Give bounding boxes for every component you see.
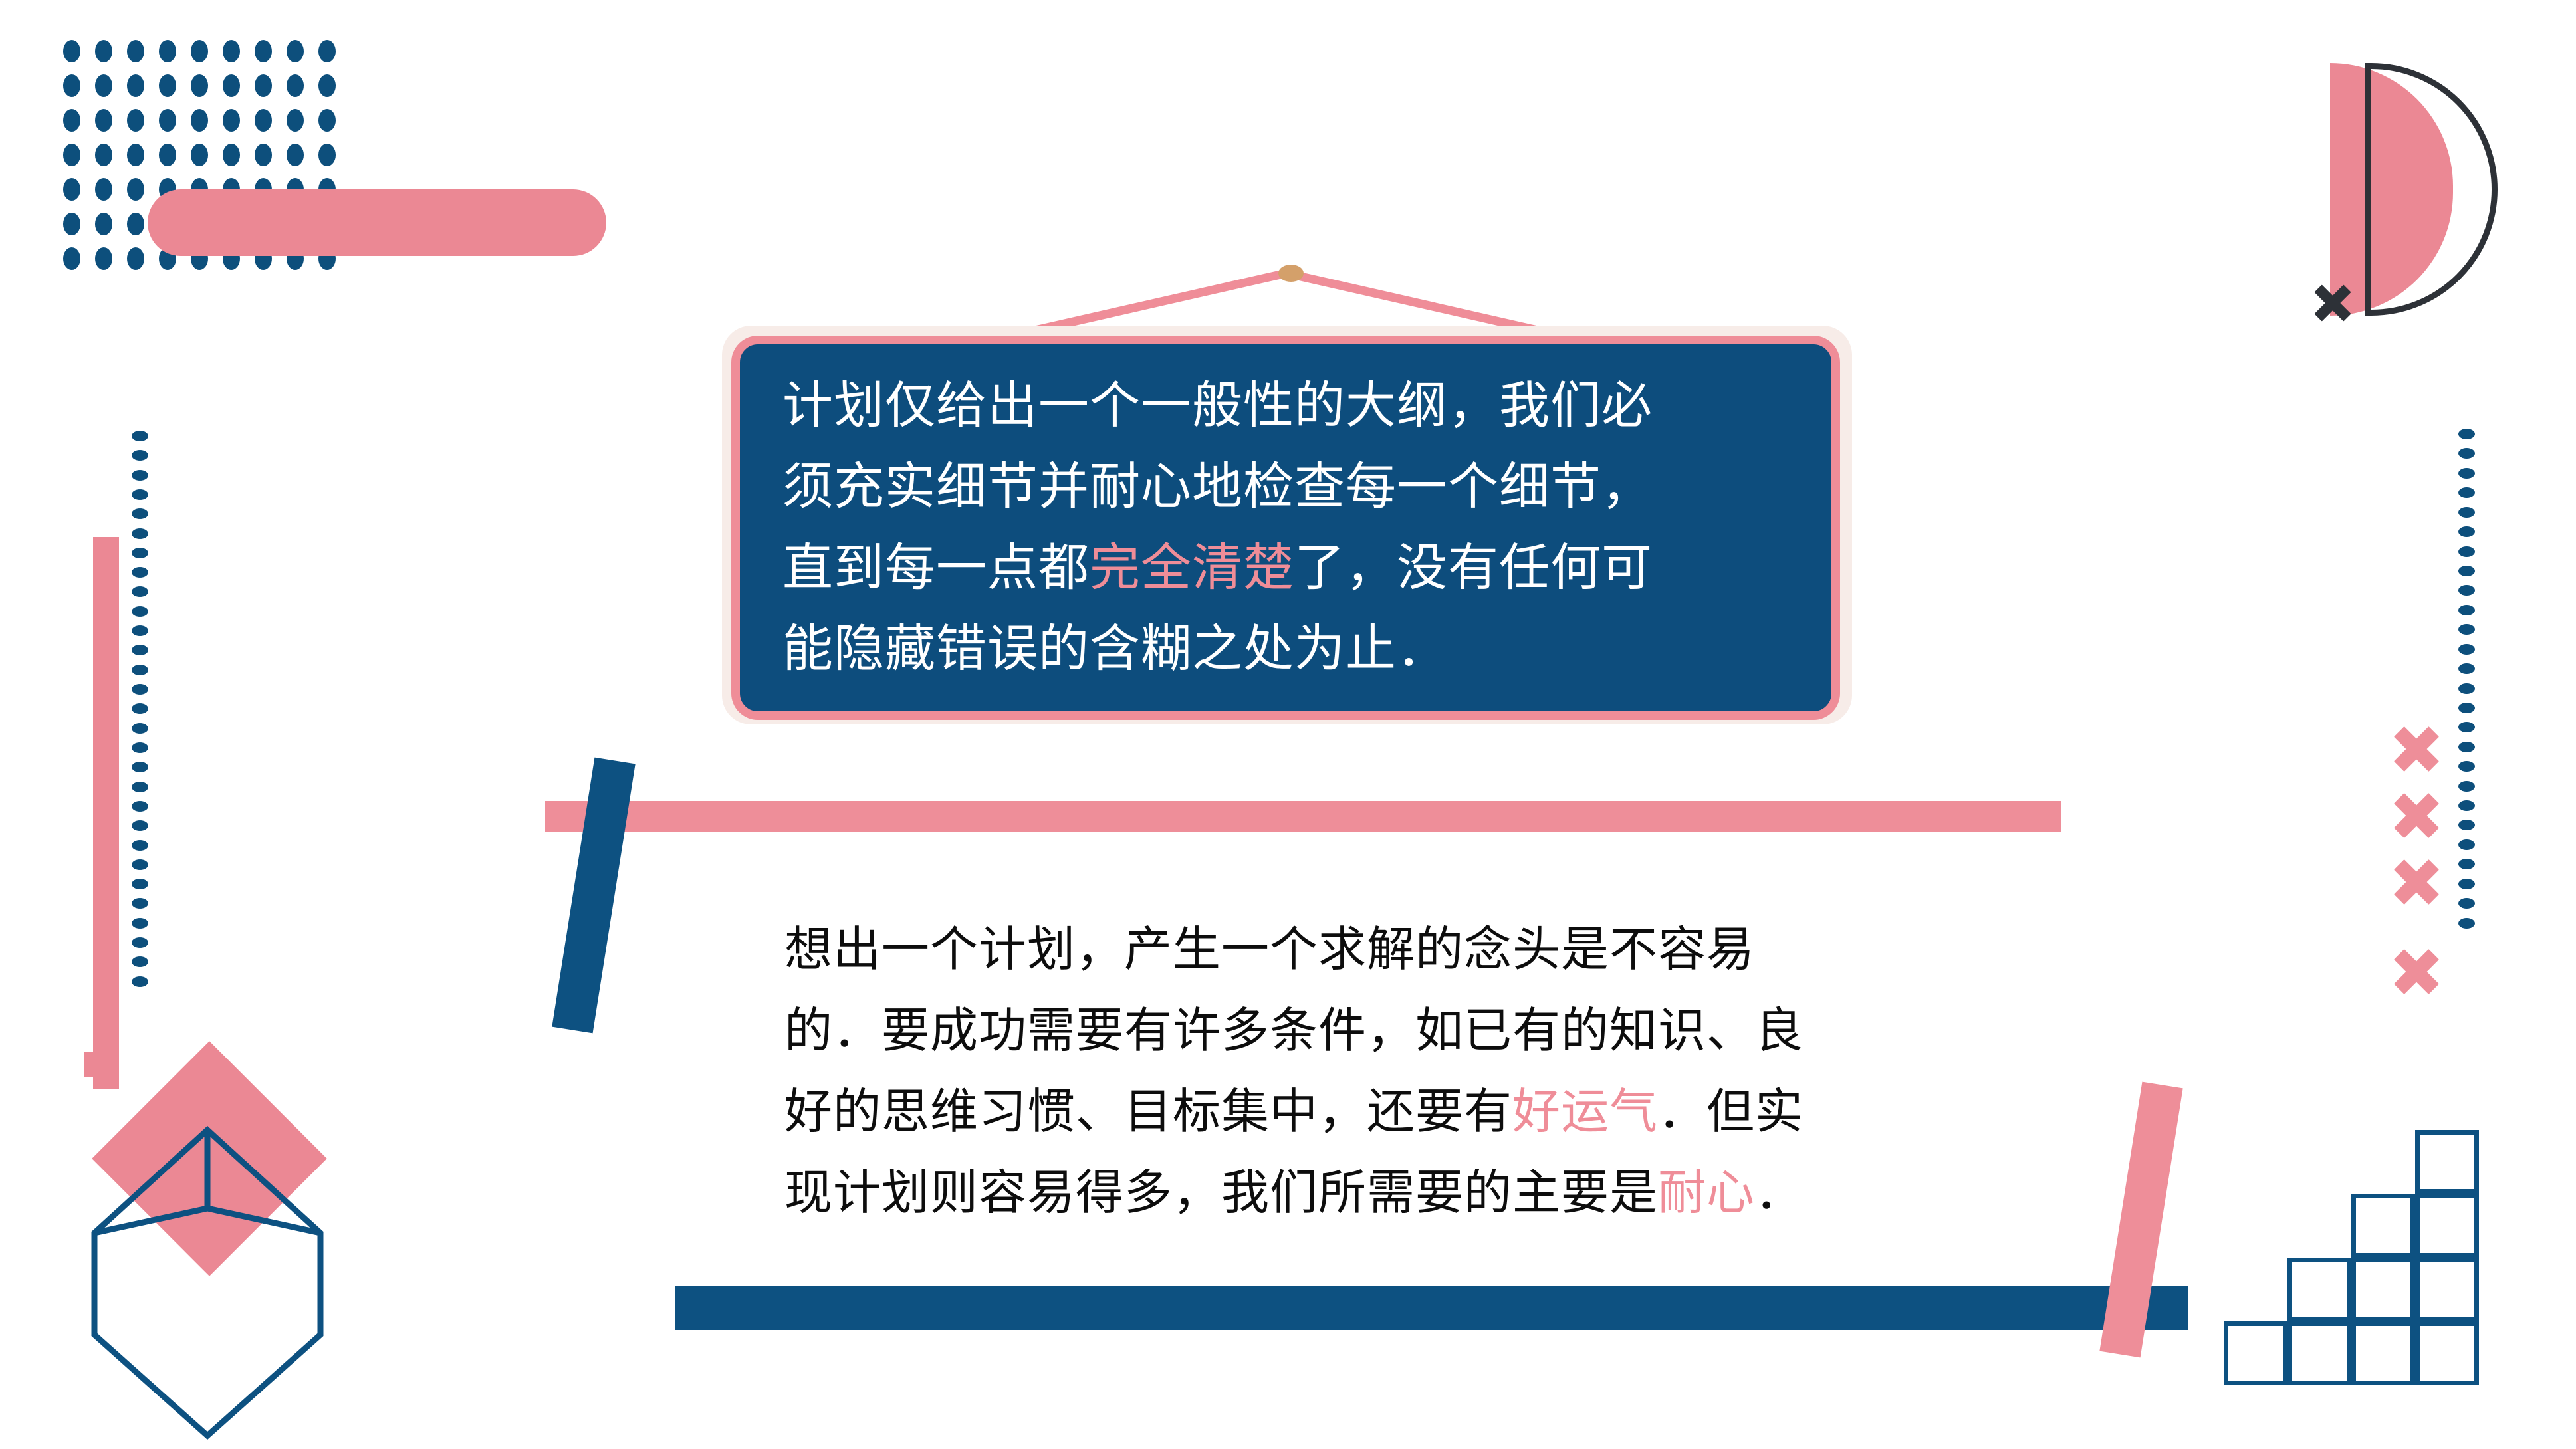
- stair-grid-decoration: [2224, 1130, 2490, 1396]
- grid-cell: [2287, 1258, 2351, 1321]
- x-mark-icon: [2392, 791, 2441, 840]
- line-dot: [132, 956, 148, 967]
- grid-dot: [191, 109, 208, 132]
- grid-dot: [318, 109, 336, 132]
- grid-dot: [223, 40, 240, 62]
- line-dot: [132, 937, 148, 948]
- line-dot: [2458, 722, 2475, 732]
- line-dot: [132, 606, 148, 617]
- grid-cell: [2351, 1321, 2415, 1385]
- text-run: 须充实细节并耐心地检查每一个细节，: [782, 459, 1653, 515]
- highlighted-phrase: 完全清楚: [1090, 540, 1294, 596]
- grid-dot: [127, 109, 144, 132]
- dotted-line-left-decoration: [132, 431, 148, 996]
- line-dot: [132, 976, 148, 987]
- line-dot: [2458, 448, 2475, 459]
- grid-dot: [318, 144, 336, 166]
- line-dot: [132, 898, 148, 909]
- line-dot: [132, 586, 148, 597]
- line-dot: [2458, 507, 2475, 518]
- outline-semicircle-decoration: [2365, 63, 2498, 316]
- grid-dot: [287, 144, 304, 166]
- grid-dot: [95, 74, 112, 97]
- line-dot: [2458, 898, 2475, 909]
- grid-cell: [2351, 1194, 2415, 1258]
- line-dot: [2458, 644, 2475, 655]
- text-run: 现计划则容易得多，我们所需要的主要是: [784, 1167, 1658, 1220]
- line-dot: [132, 762, 148, 772]
- card-quote-text: 计划仅给出一个一般性的大纲，我们必须充实细节并耐心地检查每一个细节，直到每一点都…: [782, 366, 1653, 690]
- line-dot: [2458, 526, 2475, 537]
- line-dot: [2458, 742, 2475, 752]
- navy-horizontal-bar-decoration: [675, 1286, 2188, 1330]
- text-run: 的．要成功需要有许多条件，如已有的知识、良: [784, 1004, 1804, 1058]
- line-dot: [2458, 624, 2475, 635]
- grid-cell: [2415, 1321, 2479, 1385]
- line-dot: [2458, 546, 2475, 557]
- grid-dot: [255, 109, 272, 132]
- grid-dot: [287, 40, 304, 62]
- dot-grid-decoration: [63, 40, 342, 306]
- grid-dot: [63, 144, 80, 166]
- line-dot: [132, 742, 148, 753]
- text-run: ．: [1755, 1167, 1804, 1220]
- line-dot: [132, 567, 148, 578]
- line-dot: [132, 684, 148, 695]
- diamond-cube-decoration: [66, 1057, 346, 1442]
- grid-dot: [95, 178, 112, 201]
- grid-dot: [223, 109, 240, 132]
- line-dot: [2458, 820, 2475, 830]
- grid-cell: [2415, 1194, 2479, 1258]
- line-dot: [2458, 605, 2475, 615]
- grid-dot: [127, 178, 144, 201]
- line-dot: [2458, 468, 2475, 479]
- text-run: 能隐藏错误的含糊之处为止．: [782, 621, 1448, 677]
- grid-dot: [95, 247, 112, 270]
- line-dot: [132, 470, 148, 481]
- line-dot: [2458, 487, 2475, 498]
- line-dot: [132, 528, 148, 539]
- grid-dot: [318, 40, 336, 62]
- x-mark-icon: [2312, 282, 2353, 324]
- grid-cell: [2351, 1258, 2415, 1321]
- grid-cell: [2287, 1321, 2351, 1385]
- grid-dot: [63, 213, 80, 235]
- line-dot: [132, 801, 148, 812]
- grid-dot: [255, 144, 272, 166]
- line-dot: [132, 665, 148, 675]
- line-dot: [2458, 683, 2475, 694]
- pink-horizontal-rule-decoration: [545, 801, 2061, 832]
- grid-dot: [287, 74, 304, 97]
- text-run: 计划仅给出一个一般性的大纲，我们必: [782, 378, 1653, 434]
- navy-slanted-bar-decoration: [552, 758, 635, 1034]
- quote-card: 计划仅给出一个一般性的大纲，我们必须充实细节并耐心地检查每一个细节，直到每一点都…: [731, 336, 1840, 720]
- line-dot: [2458, 879, 2475, 889]
- line-dot: [2458, 839, 2475, 850]
- line-dot: [2458, 781, 2475, 792]
- pink-vertical-bar-decoration: [93, 537, 119, 1089]
- x-mark-icon: [2392, 724, 2441, 774]
- grid-dot: [159, 40, 176, 62]
- line-dot: [132, 859, 148, 870]
- grid-dot: [127, 213, 144, 235]
- line-dot: [2458, 761, 2475, 772]
- line-dot: [132, 820, 148, 831]
- line-dot: [2458, 585, 2475, 596]
- line-dot: [132, 703, 148, 714]
- x-mark-icon: [2392, 947, 2441, 996]
- grid-dot: [223, 144, 240, 166]
- grid-dot: [63, 178, 80, 201]
- grid-dot: [255, 40, 272, 62]
- grid-cell: [2415, 1130, 2479, 1194]
- grid-dot: [287, 109, 304, 132]
- line-dot: [132, 431, 148, 441]
- grid-dot: [127, 74, 144, 97]
- grid-dot: [95, 144, 112, 166]
- grid-cell: [2224, 1321, 2287, 1385]
- grid-dot: [223, 74, 240, 97]
- grid-dot: [191, 144, 208, 166]
- line-dot: [132, 489, 148, 500]
- line-dot: [132, 625, 148, 636]
- line-dot: [2458, 429, 2475, 439]
- line-dot: [2458, 800, 2475, 811]
- cube-outline-icon: [66, 1057, 346, 1442]
- grid-dot: [95, 213, 112, 235]
- grid-dot: [95, 40, 112, 62]
- nail-icon: [1278, 265, 1304, 282]
- grid-dot: [127, 40, 144, 62]
- line-dot: [2458, 703, 2475, 713]
- line-dot: [132, 879, 148, 889]
- grid-dot: [191, 40, 208, 62]
- grid-dot: [159, 109, 176, 132]
- slide-canvas: 计划仅给出一个一般性的大纲，我们必须充实细节并耐心地检查每一个细节，直到每一点都…: [0, 0, 2576, 1449]
- line-dot: [132, 782, 148, 792]
- line-dot: [132, 918, 148, 929]
- x-mark-icon: [2392, 857, 2441, 907]
- text-run: 好的思维习惯、目标集中，还要有: [784, 1085, 1512, 1139]
- grid-cell: [2415, 1258, 2479, 1321]
- grid-dot: [63, 74, 80, 97]
- line-dot: [132, 548, 148, 558]
- grid-dot: [191, 74, 208, 97]
- grid-dot: [159, 74, 176, 97]
- text-run: 直到每一点都: [782, 540, 1090, 596]
- line-dot: [132, 840, 148, 851]
- text-run: 想出一个计划，产生一个求解的念头是不容易: [784, 923, 1755, 976]
- text-run: 了，没有任何可: [1294, 540, 1653, 596]
- line-dot: [132, 723, 148, 734]
- grid-dot: [255, 74, 272, 97]
- highlighted-phrase: 好运气: [1512, 1085, 1658, 1139]
- grid-dot: [95, 109, 112, 132]
- body-paragraph-text: 想出一个计划，产生一个求解的念头是不容易的．要成功需要有许多条件，如已有的知识、…: [784, 909, 2014, 1234]
- grid-dot: [63, 109, 80, 132]
- grid-dot: [127, 247, 144, 270]
- grid-dot: [127, 144, 144, 166]
- grid-dot: [63, 40, 80, 62]
- line-dot: [2458, 859, 2475, 869]
- line-dot: [2458, 566, 2475, 576]
- grid-dot: [159, 144, 176, 166]
- line-dot: [132, 508, 148, 519]
- text-run: ．但实: [1658, 1085, 1804, 1139]
- line-dot: [2458, 918, 2475, 929]
- pink-pill-decoration: [148, 189, 606, 256]
- line-dot: [132, 450, 148, 461]
- grid-dot: [63, 247, 80, 270]
- grid-dot: [318, 74, 336, 97]
- highlighted-phrase: 耐心: [1658, 1167, 1755, 1220]
- dotted-line-right-decoration: [2458, 429, 2475, 937]
- line-dot: [2458, 663, 2475, 674]
- line-dot: [132, 645, 148, 655]
